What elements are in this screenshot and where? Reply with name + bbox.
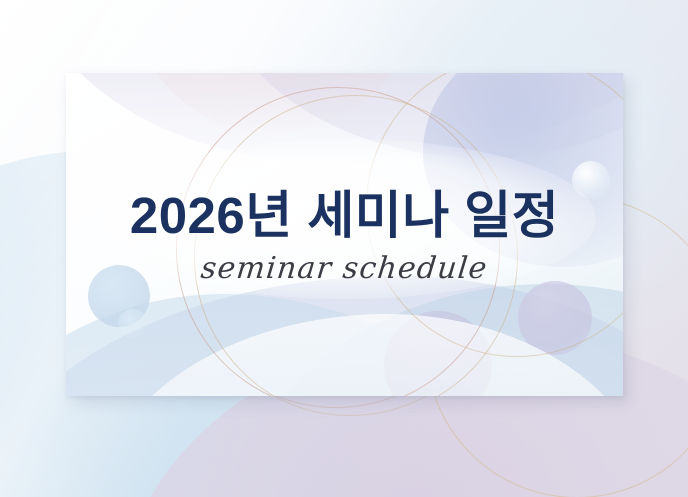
page-title: 2026년 세미나 일정 [130, 189, 559, 243]
page-subtitle: seminar schedule [199, 251, 489, 286]
title-block: 2026년 세미나 일정 seminar schedule [66, 73, 623, 396]
title-card: 2026년 세미나 일정 seminar schedule [66, 73, 623, 396]
slide-canvas: 2026년 세미나 일정 seminar schedule [0, 0, 688, 497]
